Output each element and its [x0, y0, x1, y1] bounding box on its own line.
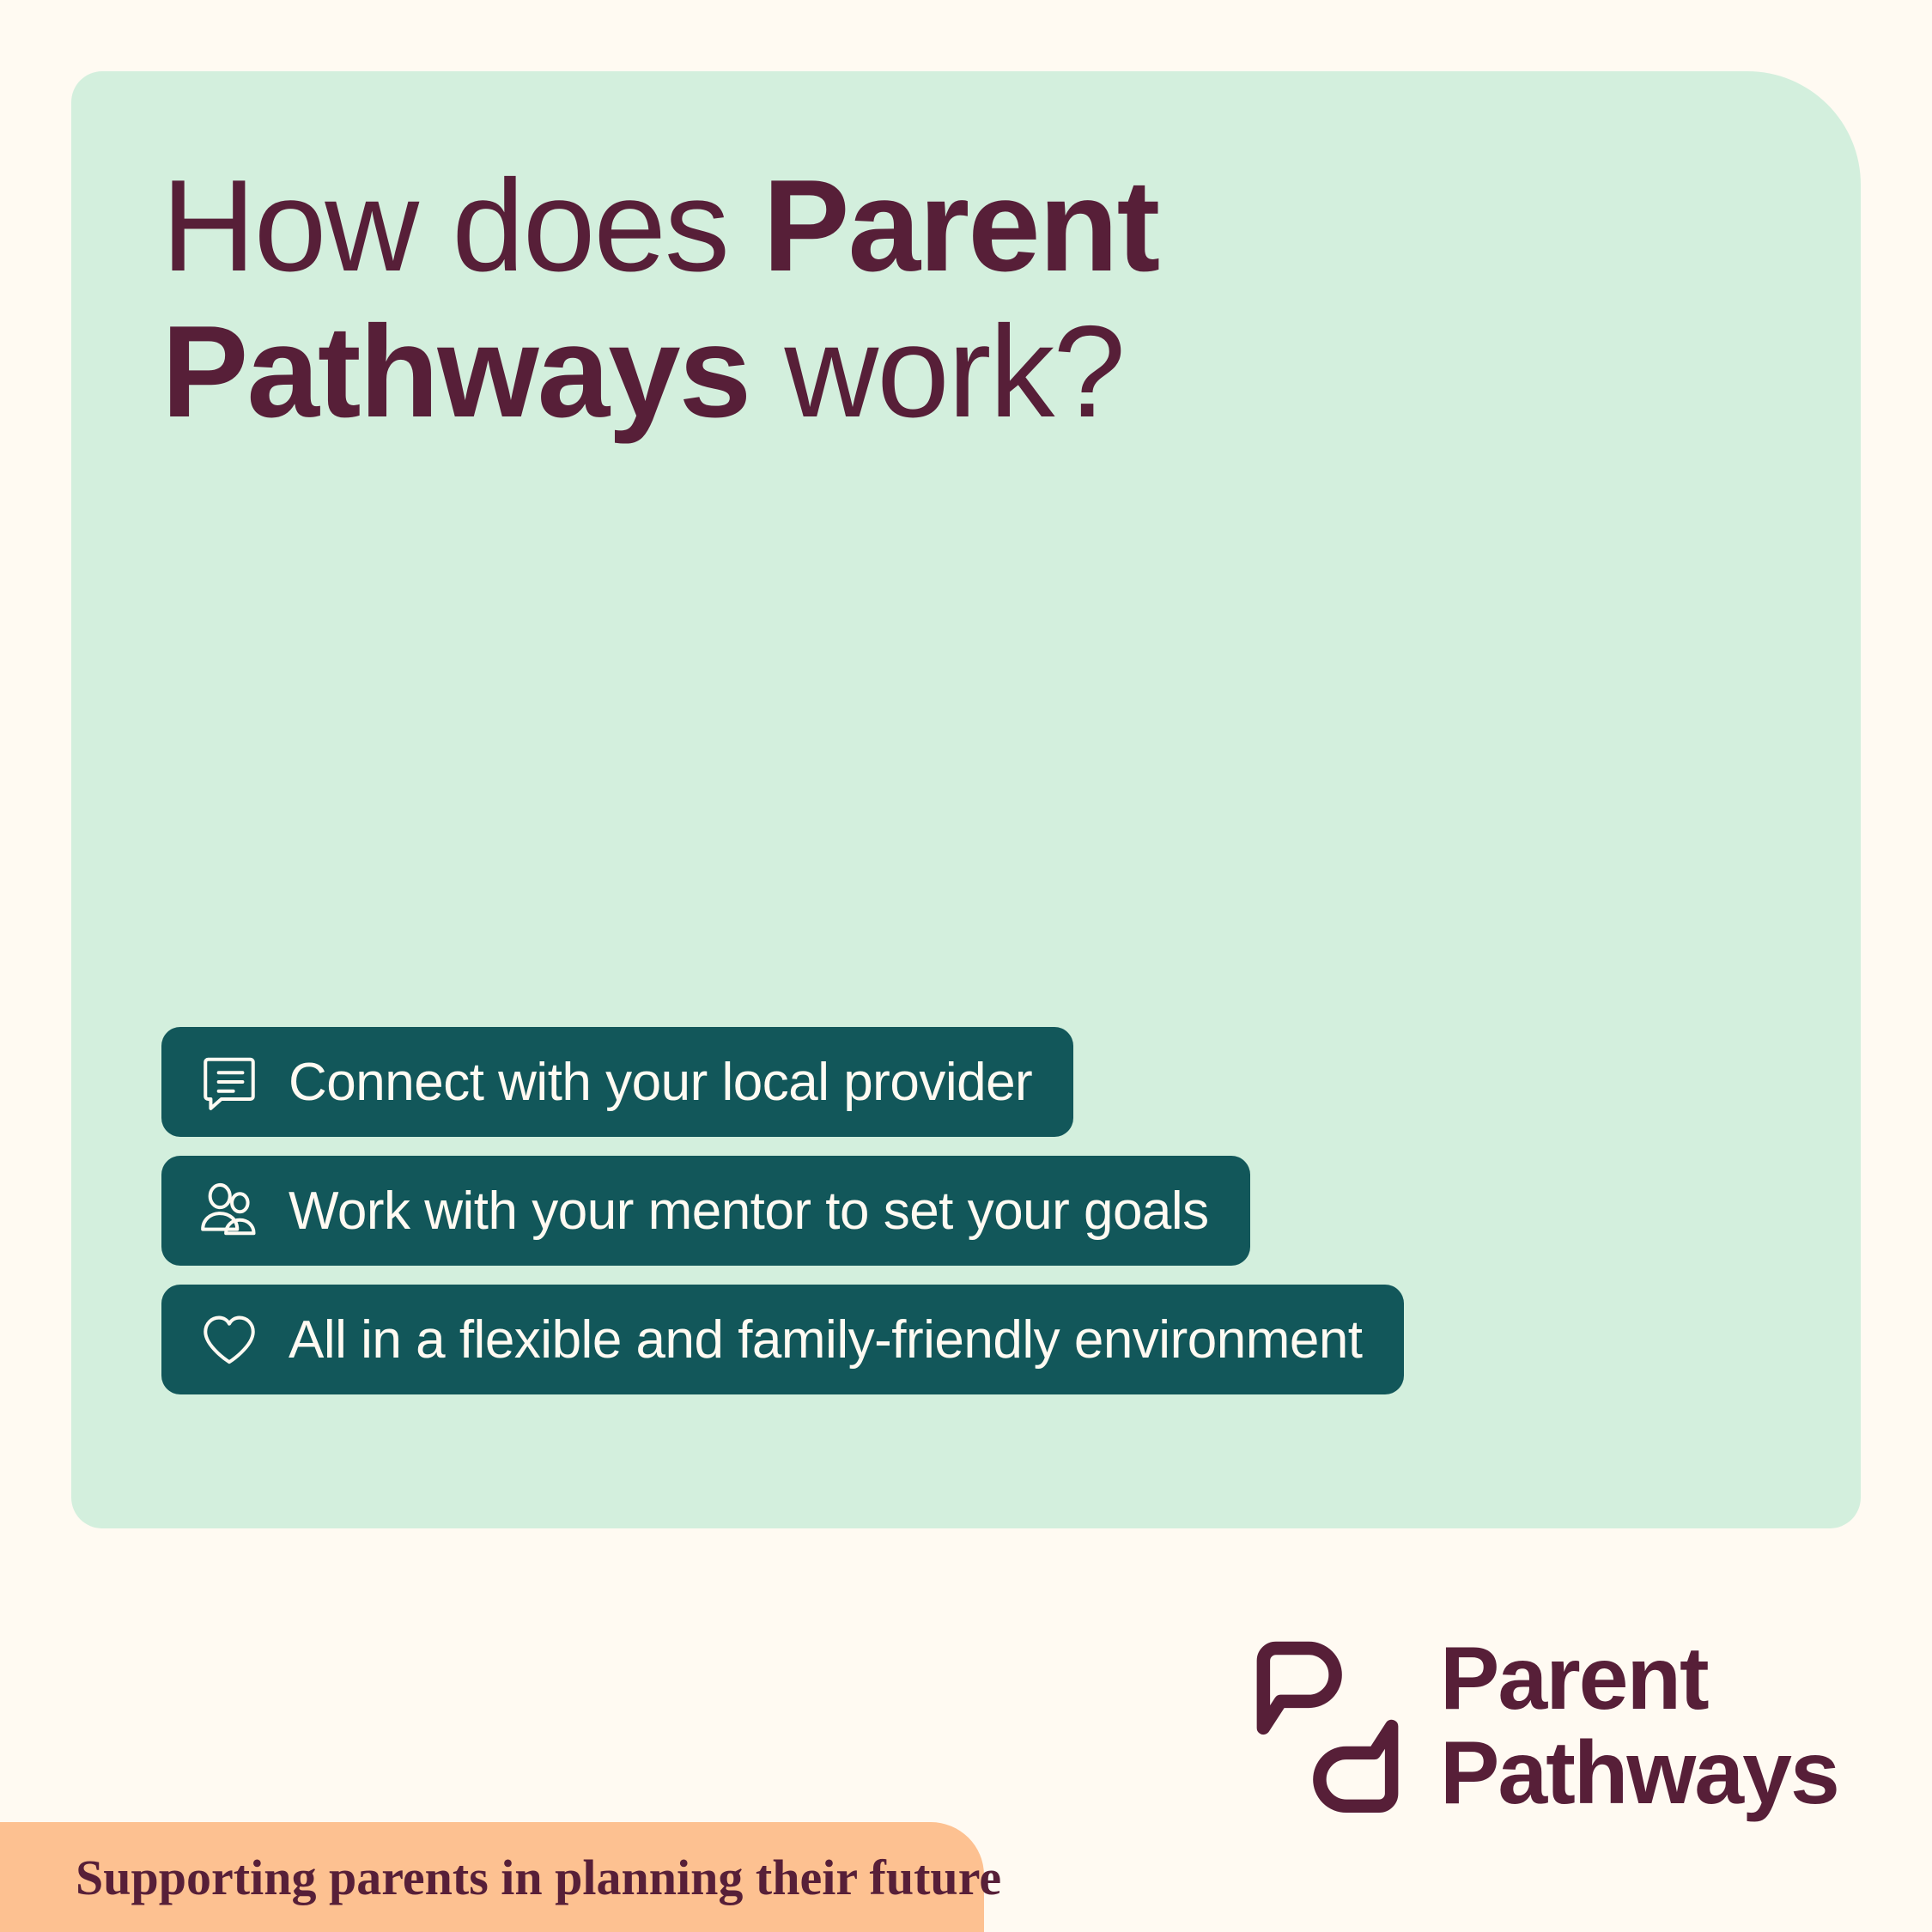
tagline-text: Supporting parents in planning their fut…	[76, 1849, 1001, 1906]
hero-card: How does Parent Pathways work? Connect w…	[71, 71, 1861, 1528]
page-title-part-1: How does	[161, 153, 762, 299]
feature-pill-flexible-environment[interactable]: All in a flexible and family-friendly en…	[161, 1285, 1404, 1394]
feature-pill-mentor-goals[interactable]: Work with your mentor to set your goals	[161, 1156, 1250, 1266]
feature-pill-connect-provider[interactable]: Connect with your local provider	[161, 1027, 1073, 1137]
parent-pathways-speech-bubble-mark-icon	[1249, 1634, 1406, 1819]
heart-icon	[196, 1306, 263, 1373]
page-title-part-3: work?	[750, 299, 1124, 445]
feature-pill-label: Work with your mentor to set your goals	[289, 1181, 1209, 1242]
brand-wordmark: Parent Pathways	[1440, 1631, 1838, 1820]
feature-pill-list: Connect with your local provider Work wi…	[161, 1027, 1404, 1394]
brand-wordmark-line-1: Parent	[1440, 1631, 1838, 1726]
brand-logo: Parent Pathways	[1249, 1631, 1838, 1820]
feature-pill-label: Connect with your local provider	[289, 1052, 1032, 1113]
page-title: How does Parent Pathways work?	[161, 153, 1449, 445]
tagline-banner: Supporting parents in planning their fut…	[0, 1822, 984, 1932]
brand-wordmark-line-2: Pathways	[1440, 1726, 1838, 1820]
two-people-icon	[196, 1177, 263, 1244]
chat-message-icon	[196, 1048, 263, 1115]
feature-pill-label: All in a flexible and family-friendly en…	[289, 1309, 1363, 1370]
